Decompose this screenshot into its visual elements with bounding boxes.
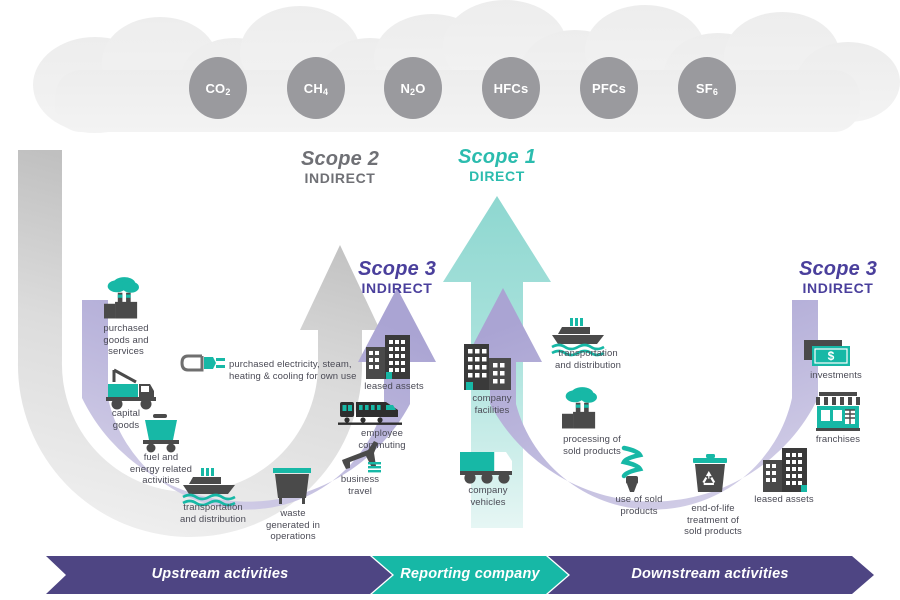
banner-label-upstream[interactable]: Upstream activities (110, 566, 330, 582)
scope3-upstream-name: Scope 3 (337, 258, 457, 280)
money-value: $ (828, 349, 835, 363)
gas-label-pfcs: PFCs (579, 81, 639, 96)
gas-label-ch4: CH4 (286, 81, 346, 96)
gas-label-n2o: N2O (383, 81, 443, 96)
label-fuel-and-energy-related-activities: fuel andenergy relatedactivities (113, 452, 209, 487)
gas-label-hfcs: HFCs (481, 81, 541, 96)
factory-icon (562, 387, 597, 428)
factory-icon (104, 277, 139, 318)
scope1-subtitle: DIRECT (437, 168, 557, 185)
label-purchased-electricity: purchased electricity, steam,heating & c… (229, 359, 389, 382)
scope1-name: Scope 1 (437, 146, 557, 168)
label-purchased-goods-and-services: purchasedgoods andservices (86, 323, 166, 358)
banner-label-reporting[interactable]: Reporting company (380, 566, 560, 582)
delivery-truck-icon (460, 452, 513, 484)
label-transportation-and-distribution-upstream: transportationand distribution (163, 502, 263, 525)
label-company-facilities: companyfacilities (457, 393, 527, 416)
ghg-scopes-diagram: $ CO2 CH4 N2O HFCs PFCs SF6 Scope 2 INDI… (0, 0, 900, 600)
scope1-title: Scope 1 DIRECT (437, 146, 557, 185)
gas-label-sf6: SF6 (677, 81, 737, 96)
scope3-upstream-subtitle: INDIRECT (337, 280, 457, 297)
label-investments: investments (796, 370, 876, 382)
scope3-downstream-name: Scope 3 (778, 258, 898, 280)
label-use-of-sold-products: use of soldproducts (600, 494, 678, 517)
label-end-of-life-treatment: end-of-lifetreatment ofsold products (672, 503, 754, 538)
label-employee-commuting: employeecommuting (340, 428, 424, 451)
diagram-canvas: $ (0, 0, 900, 600)
label-business-travel: businesstravel (325, 474, 395, 497)
truck-crane-icon (106, 370, 156, 410)
scope2-name: Scope 2 (280, 148, 400, 170)
banner-label-downstream[interactable]: Downstream activities (600, 566, 820, 582)
scope3-downstream-subtitle: INDIRECT (778, 280, 898, 297)
label-company-vehicles: companyvehicles (452, 485, 524, 508)
label-waste-generated-in-operations: wastegenerated inoperations (253, 508, 333, 543)
label-processing-of-sold-products: processing ofsold products (548, 434, 636, 457)
label-capital-goods: capitalgoods (91, 408, 161, 431)
power-plug-icon (182, 356, 225, 370)
scope3-upstream-title: Scope 3 INDIRECT (337, 258, 457, 297)
storefront-icon (816, 392, 860, 431)
label-franchises: franchises (802, 434, 874, 446)
label-leased-assets-downstream: leased assets (744, 494, 824, 506)
gas-label-co2: CO2 (188, 81, 248, 96)
scope2-subtitle: INDIRECT (280, 170, 400, 187)
label-leased-assets-upstream: leased assets (354, 381, 434, 393)
scope2-title: Scope 2 INDIRECT (280, 148, 400, 187)
label-transportation-and-distribution-downstream: transportationand distribution (538, 348, 638, 371)
scope3-downstream-title: Scope 3 INDIRECT (778, 258, 898, 297)
recycle-bin-icon (693, 454, 727, 492)
cloud-background (33, 0, 900, 133)
